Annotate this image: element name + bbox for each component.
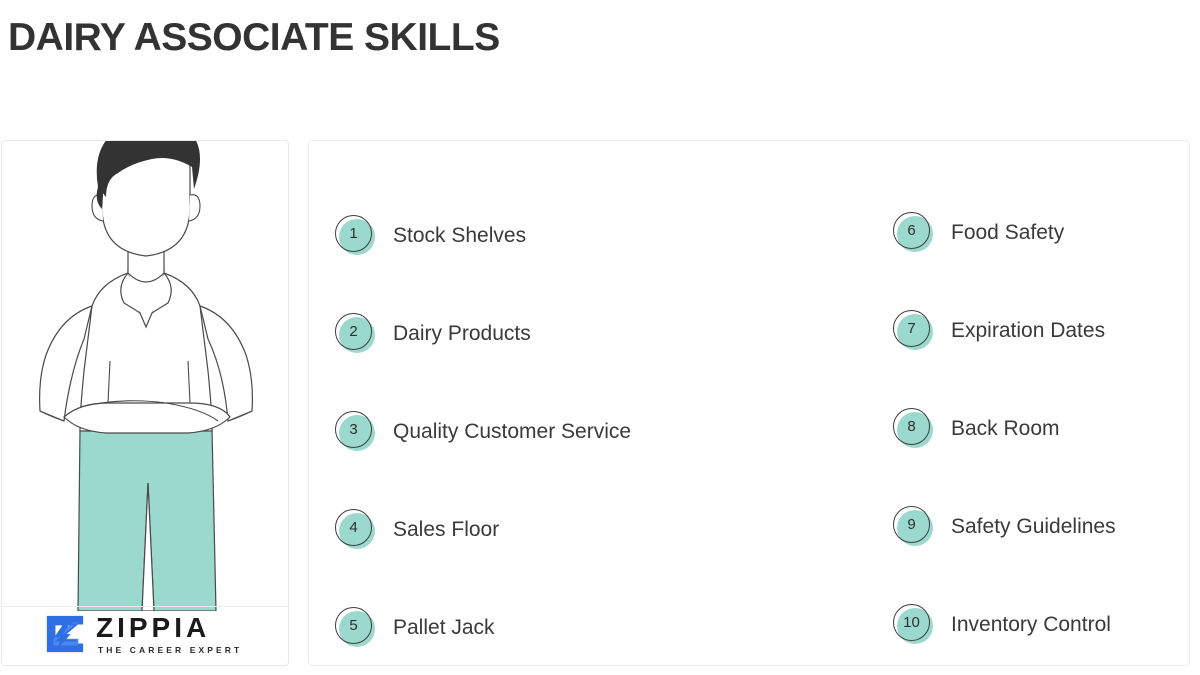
zippia-logo[interactable]: ZIPPIA THE CAREER EXPERT	[44, 613, 242, 655]
person-illustration	[2, 140, 289, 611]
skills-card: 1 Stock Shelves 2 Dairy Products	[308, 140, 1190, 666]
badge-ring-circle: 6	[893, 212, 930, 249]
skill-number-badge: 2	[335, 313, 377, 355]
skill-label: Inventory Control	[951, 613, 1111, 637]
skill-number-badge: 4	[335, 509, 377, 551]
page-title: DAIRY ASSOCIATE SKILLS	[8, 16, 500, 60]
skill-number-badge: 3	[335, 411, 377, 453]
skill-item-8[interactable]: 8 Back Room	[893, 380, 1189, 478]
skill-label: Expiration Dates	[951, 319, 1105, 343]
badge-number: 10	[903, 615, 920, 630]
skill-label: Pallet Jack	[393, 616, 495, 640]
illustration-card: ZIPPIA THE CAREER EXPERT	[1, 140, 289, 666]
skill-label: Back Room	[951, 417, 1060, 441]
badge-ring-circle: 2	[335, 313, 372, 350]
skills-column-left: 1 Stock Shelves 2 Dairy Products	[309, 141, 749, 675]
skill-number-badge: 5	[335, 607, 377, 649]
badge-number: 5	[349, 618, 357, 633]
logo-text: ZIPPIA THE CAREER EXPERT	[96, 614, 242, 655]
skills-grid: 1 Stock Shelves 2 Dairy Products	[309, 141, 1189, 665]
badge-number: 9	[907, 517, 915, 532]
skill-label: Food Safety	[951, 221, 1064, 245]
badge-ring-circle: 7	[893, 310, 930, 347]
badge-ring-circle: 5	[335, 607, 372, 644]
zippia-z-logo-icon	[44, 613, 86, 655]
skill-label: Dairy Products	[393, 322, 531, 346]
skill-number-badge: 1	[335, 215, 377, 257]
badge-ring-circle: 10	[893, 604, 930, 641]
badge-number: 7	[907, 321, 915, 336]
infographic-page: DAIRY ASSOCIATE SKILLS	[0, 0, 1200, 675]
skill-item-3[interactable]: 3 Quality Customer Service	[335, 383, 749, 481]
skill-item-4[interactable]: 4 Sales Floor	[335, 481, 749, 579]
badge-number: 2	[349, 324, 357, 339]
logo-tagline: THE CAREER EXPERT	[98, 646, 242, 655]
skills-column-right: 6 Food Safety 7 Expiration Dates	[749, 141, 1189, 675]
skill-item-6[interactable]: 6 Food Safety	[893, 184, 1189, 282]
logo-wordmark: ZIPPIA	[96, 614, 242, 642]
skill-item-5[interactable]: 5 Pallet Jack	[335, 579, 749, 675]
badge-number: 3	[349, 422, 357, 437]
skill-number-badge: 9	[893, 506, 935, 548]
skill-item-9[interactable]: 9 Safety Guidelines	[893, 478, 1189, 576]
badge-number: 8	[907, 419, 915, 434]
skill-number-badge: 6	[893, 212, 935, 254]
skill-item-2[interactable]: 2 Dairy Products	[335, 285, 749, 383]
badge-ring-circle: 4	[335, 509, 372, 546]
skill-label: Quality Customer Service	[393, 420, 631, 444]
skill-item-7[interactable]: 7 Expiration Dates	[893, 282, 1189, 380]
skill-number-badge: 10	[893, 604, 935, 646]
badge-ring-circle: 3	[335, 411, 372, 448]
badge-number: 6	[907, 223, 915, 238]
skill-item-1[interactable]: 1 Stock Shelves	[335, 187, 749, 285]
badge-ring-circle: 9	[893, 506, 930, 543]
skill-label: Safety Guidelines	[951, 515, 1116, 539]
skill-item-10[interactable]: 10 Inventory Control	[893, 576, 1189, 674]
badge-ring-circle: 8	[893, 408, 930, 445]
skill-label: Sales Floor	[393, 518, 499, 542]
skill-number-badge: 8	[893, 408, 935, 450]
badge-number: 4	[349, 520, 357, 535]
badge-number: 1	[349, 226, 357, 241]
badge-ring-circle: 1	[335, 215, 372, 252]
logo-divider	[2, 606, 288, 607]
skill-label: Stock Shelves	[393, 224, 526, 248]
skill-number-badge: 7	[893, 310, 935, 352]
